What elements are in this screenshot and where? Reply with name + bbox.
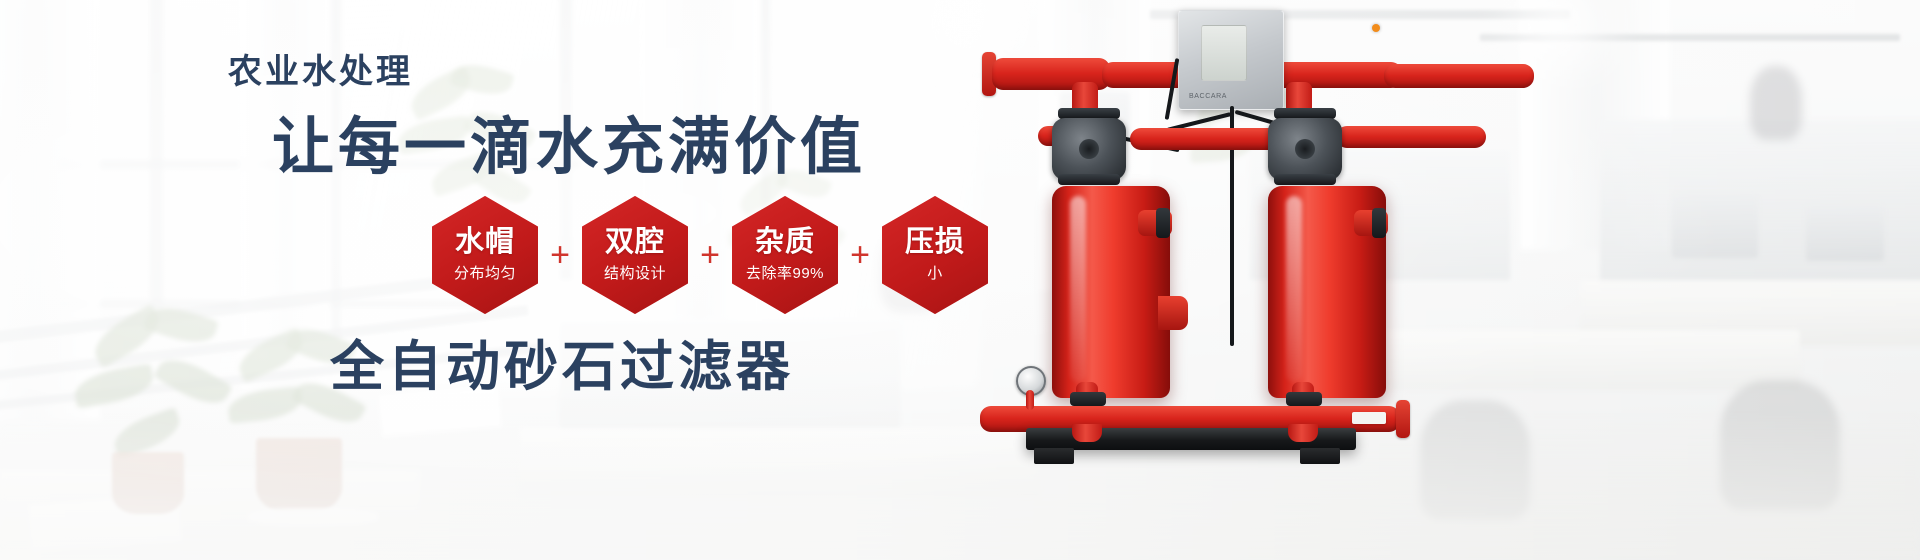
badge-2-title: 双腔: [605, 227, 665, 257]
base-support: [1288, 424, 1318, 442]
main-headline: 让每一滴水充满价值: [272, 96, 866, 186]
top-manifold-pipe: [1384, 64, 1534, 88]
banner-copy: 农业水处理 让每一滴水充满价值 全自动砂石过滤器 水帽 分布均匀 + 双腔 结构…: [0, 0, 1000, 560]
nozzle-clamp: [1156, 208, 1170, 238]
pipe-clamp: [1070, 392, 1106, 406]
badge-3-subtitle: 去除率99%: [746, 262, 824, 283]
badge-1-subtitle: 分布均匀: [454, 262, 516, 283]
control-box-brand-label: BACCARA: [1189, 93, 1227, 100]
valve-cap: [1274, 174, 1336, 185]
base-foot: [1034, 448, 1074, 464]
control-box: BACCARA: [1178, 10, 1284, 110]
valve-cap: [1058, 174, 1120, 185]
kicker-text: 农业水处理: [228, 44, 413, 93]
product-label-tag: [1352, 412, 1386, 424]
badge-4-title: 压损: [905, 227, 965, 257]
badge-1-title: 水帽: [455, 227, 515, 257]
indicator-light: [1372, 24, 1380, 32]
plus-separator-icon: +: [538, 238, 582, 272]
feature-badge-4: 压损 小: [882, 196, 988, 314]
base-foot: [1300, 448, 1340, 464]
pipe-clamp: [1286, 392, 1322, 406]
badge-3-title: 杂质: [755, 227, 815, 257]
lateral-pipe: [1336, 126, 1486, 148]
pipe-flange: [1396, 400, 1410, 438]
diaphragm-valve: [1268, 118, 1342, 180]
product-name-title: 全自动砂石过滤器: [330, 322, 794, 401]
diaphragm-valve: [1052, 118, 1126, 180]
feature-badge-1: 水帽 分布均匀: [432, 196, 538, 314]
control-box-display: [1201, 25, 1247, 81]
feature-badge-3: 杂质 去除率99%: [732, 196, 838, 314]
plus-separator-icon: +: [838, 238, 882, 272]
badge-2-subtitle: 结构设计: [604, 262, 666, 283]
badge-4-subtitle: 小: [927, 262, 943, 283]
feature-badge-row: 水帽 分布均匀 + 双腔 结构设计 + 杂质 去除率99% + 压损 小: [432, 196, 988, 314]
sand-filter-product-photo: BACCARA: [980, 0, 1540, 470]
tank-drain-boss: [1158, 296, 1188, 330]
gauge-stem: [1026, 390, 1034, 410]
promo-banner: 农业水处理 让每一滴水充满价值 全自动砂石过滤器 水帽 分布均匀 + 双腔 结构…: [0, 0, 1920, 560]
plus-separator-icon: +: [688, 238, 732, 272]
base-support: [1072, 424, 1102, 442]
feature-badge-2: 双腔 结构设计: [582, 196, 688, 314]
nozzle-clamp: [1372, 208, 1386, 238]
